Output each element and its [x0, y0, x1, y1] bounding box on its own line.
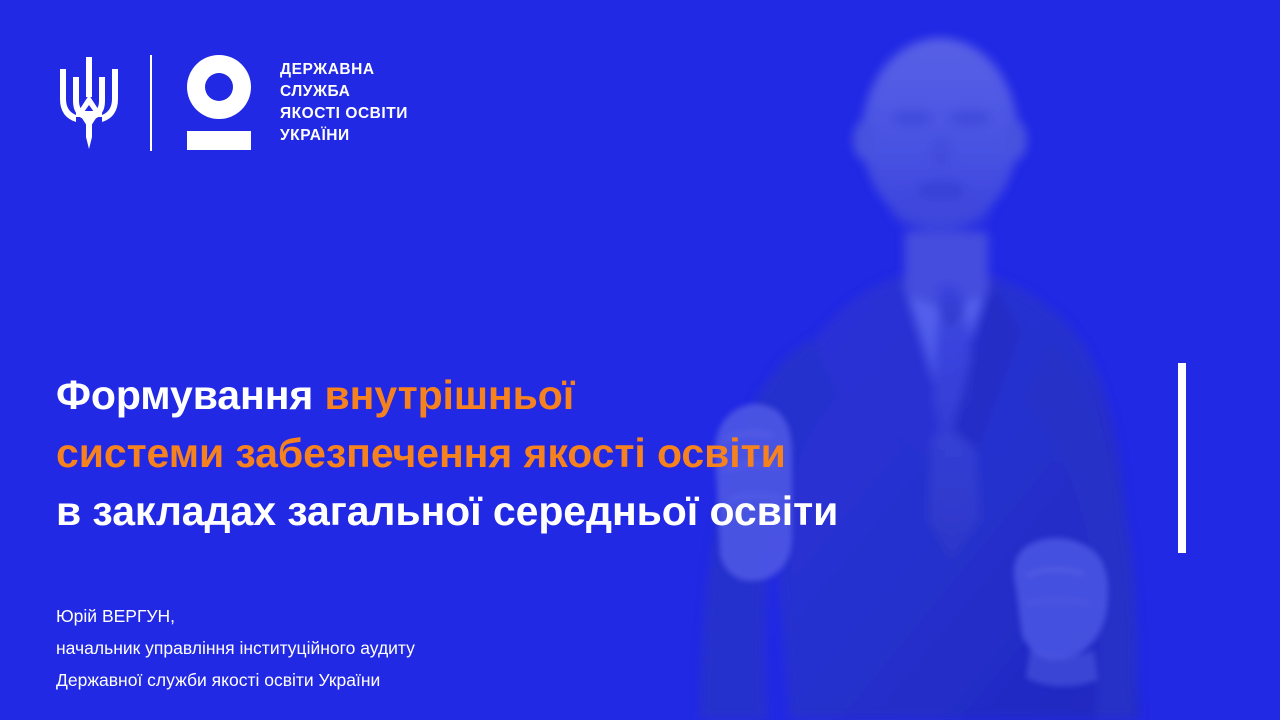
- logo-wordmark: ДЕРЖАВНА СЛУЖБА ЯКОСТІ ОСВІТИ УКРАЇНИ: [280, 59, 408, 148]
- presenter-right-hand: [1014, 538, 1108, 687]
- speaker-name: Юрій ВЕРГУН,: [56, 600, 415, 632]
- logo-lockup: ДЕРЖАВНА СЛУЖБА ЯКОСТІ ОСВІТИ УКРАЇНИ: [56, 48, 408, 158]
- slide-title: Формування внутрішньої системи забезпече…: [56, 366, 1166, 540]
- presentation-slide: ДЕРЖАВНА СЛУЖБА ЯКОСТІ ОСВІТИ УКРАЇНИ Фо…: [0, 0, 1280, 720]
- title-line-2: системи забезпечення якості освіти: [56, 424, 1166, 482]
- title-segment-plain: Формування: [56, 372, 325, 418]
- speaker-organization: Державної служби якості освіти України: [56, 664, 415, 696]
- title-segment-highlight: внутрішньої: [325, 372, 575, 418]
- vertical-accent-bar: [1178, 363, 1186, 553]
- logo-text-line-3: ЯКОСТІ ОСВІТИ: [280, 103, 408, 125]
- logo-text-line-2: СЛУЖБА: [280, 81, 408, 103]
- logo-text-line-4: УКРАЇНИ: [280, 125, 408, 147]
- ukrainian-trident-icon: [56, 55, 122, 151]
- sqo-circle-mark-icon: [180, 53, 258, 153]
- title-segment-highlight: системи забезпечення якості освіти: [56, 430, 786, 476]
- speaker-role: начальник управління інституційного ауди…: [56, 632, 415, 664]
- title-line-3: в закладах загальної середньої освіти: [56, 482, 1166, 540]
- logo-divider: [150, 55, 152, 151]
- title-segment-plain: в закладах загальної середньої освіти: [56, 488, 838, 534]
- logo-text-line-1: ДЕРЖАВНА: [280, 59, 408, 81]
- title-line-1: Формування внутрішньої: [56, 366, 1166, 424]
- speaker-credit: Юрій ВЕРГУН, начальник управління інстит…: [56, 600, 415, 696]
